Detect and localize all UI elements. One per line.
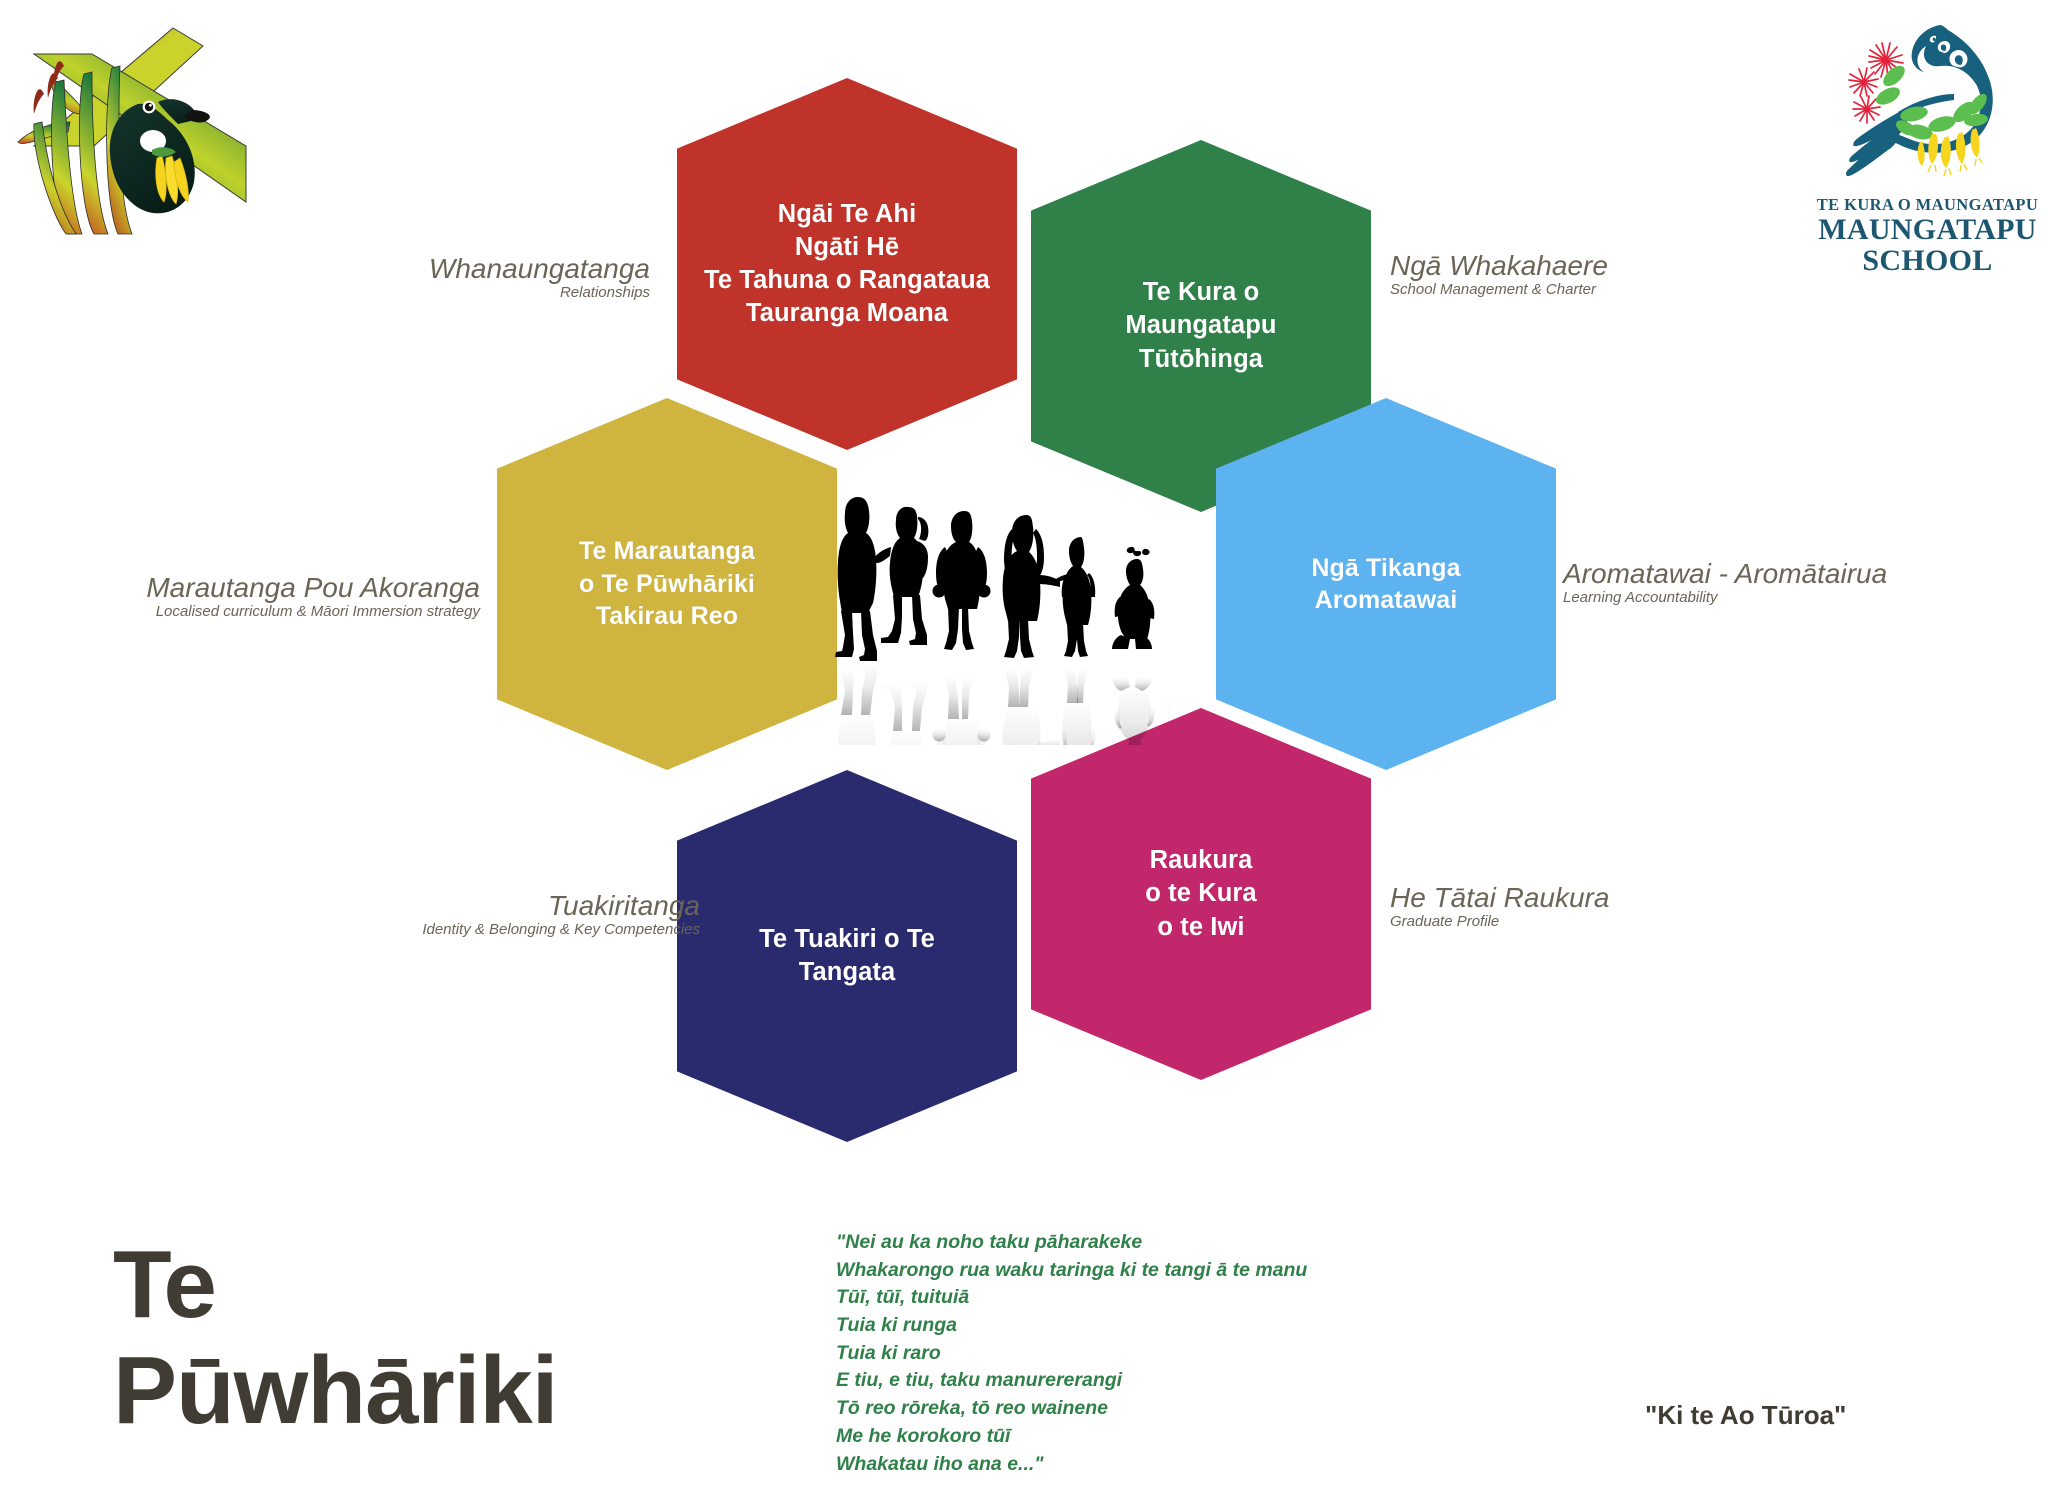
tui-bird-pohutukawa-kowhai-logo-icon <box>1828 8 2028 193</box>
label-maori: Marautanga Pou Akoranga <box>110 572 480 603</box>
logo-school-word: SCHOOL <box>1862 245 1992 277</box>
hexagon-raukura-o-te-kura-o-te-iwi[interactable]: Raukura o te Kura o te Iwi <box>1031 708 1371 1080</box>
children-silhouettes-graphic <box>830 485 1240 745</box>
hexagon-te-marautanga-o-te-puwhariki[interactable]: Te Marautanga o Te Pūwhāriki Takirau Reo <box>497 398 837 770</box>
hexagon-label: Te Tuakiri o Te Tangata <box>751 923 943 989</box>
school-motto: "Ki te Ao Tūroa" <box>1645 1400 1975 1431</box>
label-english: Localised curriculum & Māori Immersion s… <box>110 603 480 622</box>
label-english: Relationships <box>230 284 650 303</box>
hexagon-ngai-te-ahi[interactable]: Ngāi Te Ahi Ngāti Hē Te Tahuna o Rangata… <box>677 78 1017 450</box>
page-title: Te Pūwhāriki <box>113 1232 873 1443</box>
label-marautanga-pou-akoranga: Marautanga Pou Akoranga Localised curric… <box>110 572 480 622</box>
label-maori: Tuakiritanga <box>300 890 700 921</box>
hexagon-label: Ngā Tikanga Aromatawai <box>1303 552 1468 617</box>
maungatapu-school-logo: TE KURA O MAUNGATAPU MAUNGATAPU SCHOOL <box>1815 8 2040 293</box>
label-english: School Management & Charter <box>1390 281 1810 300</box>
whakatauki-poem: "Nei au ka noho taku pāharakeke Whakaron… <box>836 1229 1516 1478</box>
label-nga-whakahaere: Ngā Whakahaere School Management & Chart… <box>1390 250 1810 300</box>
hexagon-label: Ngāi Te Ahi Ngāti Hē Te Tahuna o Rangata… <box>696 198 998 331</box>
hexagon-label: Te Marautanga o Te Pūwhāriki Takirau Reo <box>571 535 763 633</box>
poster-canvas: TE KURA O MAUNGATAPU MAUNGATAPU SCHOOL N… <box>0 0 2048 1509</box>
label-maori: He Tātai Raukura <box>1390 882 1810 913</box>
hexagon-te-tuakiri-o-te-tangata[interactable]: Te Tuakiri o Te Tangata <box>677 770 1017 1142</box>
hexagon-label: Te Kura o Maungatapu Tūtōhinga <box>1117 276 1284 375</box>
label-he-tatai-raukura: He Tātai Raukura Graduate Profile <box>1390 882 1810 932</box>
label-english: Identity & Belonging & Key Competencies <box>300 921 700 940</box>
label-aromatawai-aromatairua: Aromatawai - Aromātairua Learning Accoun… <box>1563 558 2023 608</box>
label-tuakiritanga: Tuakiritanga Identity & Belonging & Key … <box>300 890 700 940</box>
label-english: Graduate Profile <box>1390 913 1810 932</box>
tui-bird-harakeke-logo-icon <box>8 6 268 236</box>
logo-school-name: MAUNGATAPU <box>1818 215 2037 245</box>
label-whanaungatanga: Whanaungatanga Relationships <box>230 253 650 303</box>
label-maori: Whanaungatanga <box>230 253 650 284</box>
label-english: Learning Accountability <box>1563 589 2023 608</box>
label-maori: Aromatawai - Aromātairua <box>1563 558 2023 589</box>
label-maori: Ngā Whakahaere <box>1390 250 1810 281</box>
hexagon-nga-tikanga-aromatawai[interactable]: Ngā Tikanga Aromatawai <box>1216 398 1556 770</box>
logo-tagline-maori: TE KURA O MAUNGATAPU <box>1817 195 2038 215</box>
hexagon-label: Raukura o te Kura o te Iwi <box>1137 844 1264 943</box>
